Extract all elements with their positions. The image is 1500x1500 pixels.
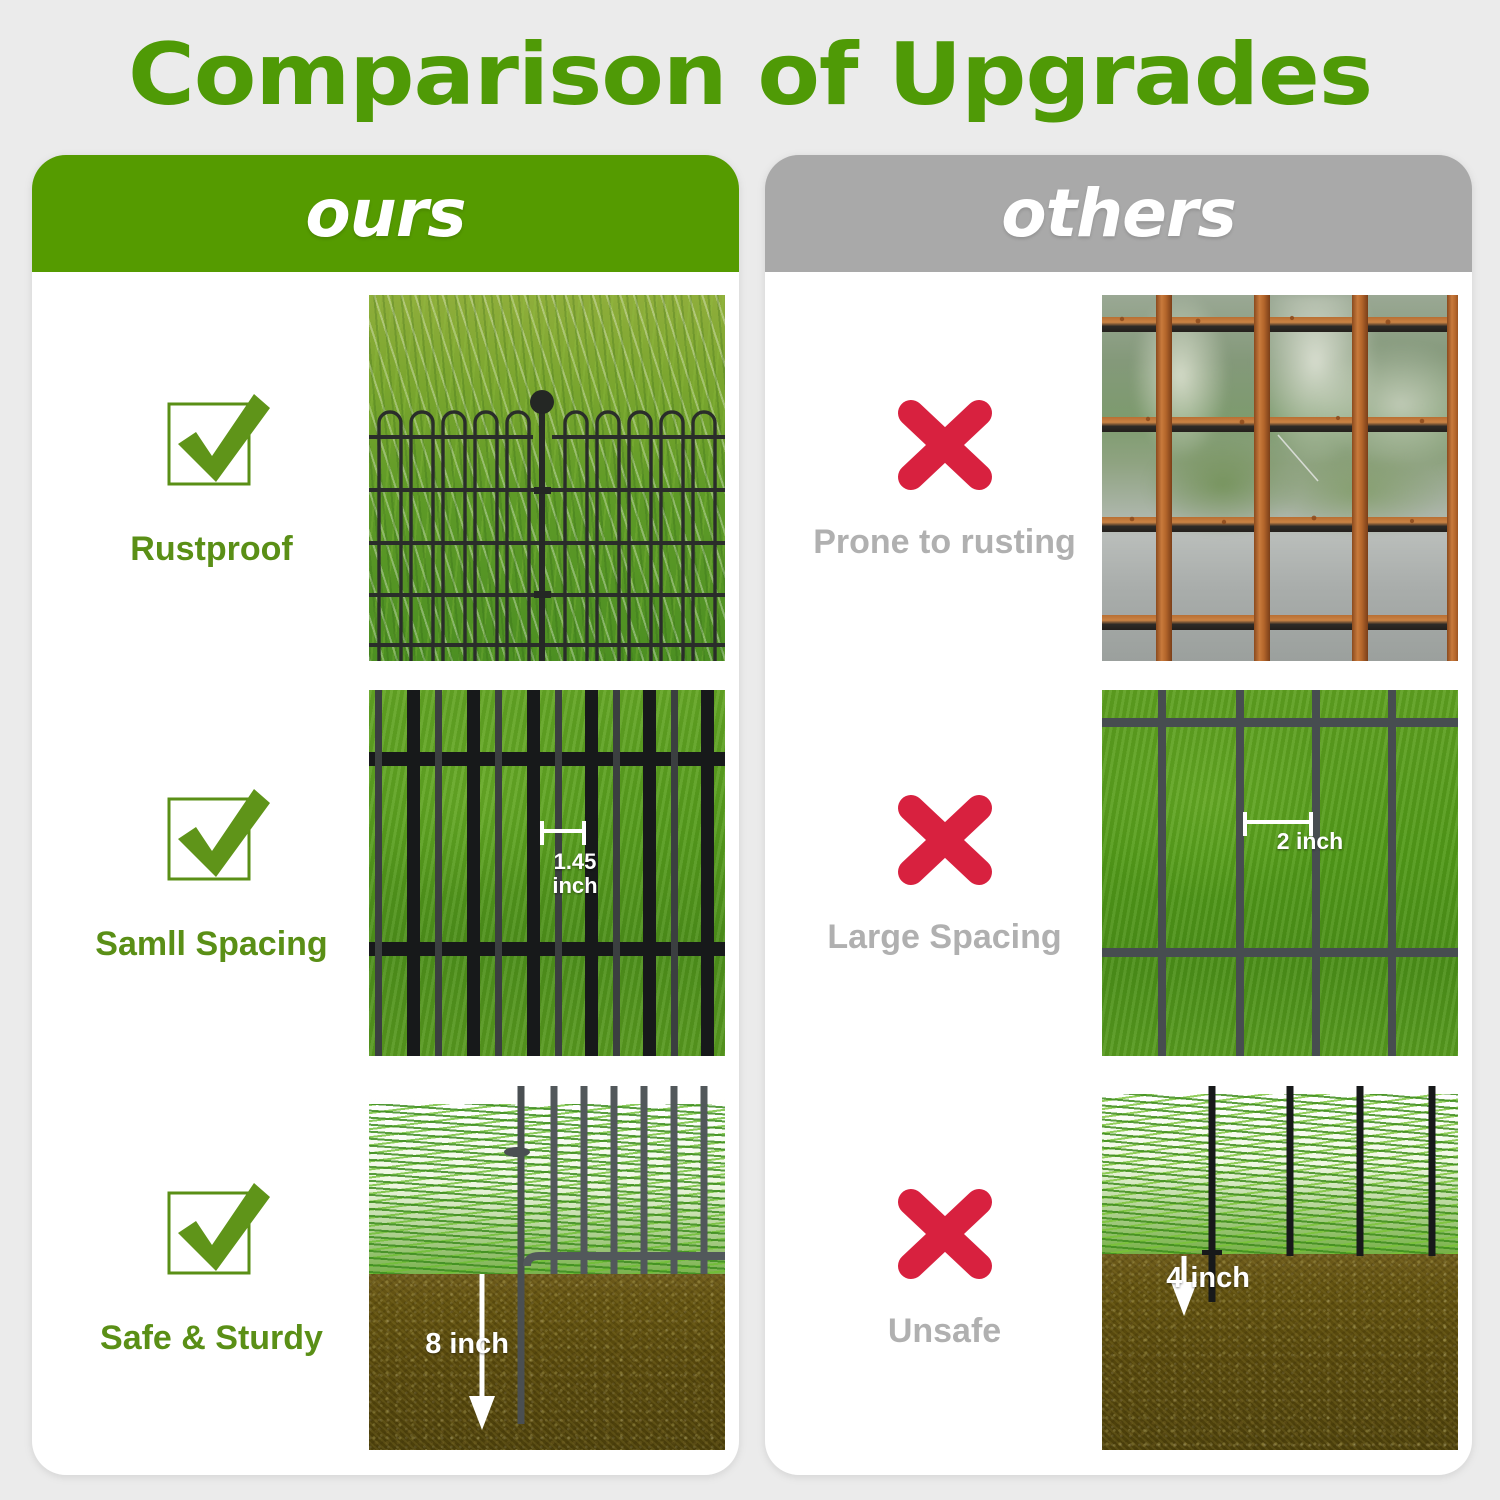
feature-label-safe-sturdy: Safe & Sturdy bbox=[100, 1319, 323, 1358]
panel-body-others: Prone to rusting bbox=[765, 272, 1472, 1475]
feature-prone-to-rusting: Prone to rusting bbox=[787, 393, 1102, 562]
media-large-spacing: 2 inch bbox=[1102, 690, 1458, 1056]
media-small-spacing: 1.45 inch bbox=[369, 690, 725, 1056]
feature-rustproof: Rustproof bbox=[54, 386, 369, 569]
red-x-icon bbox=[889, 788, 1001, 892]
feature-row-rustproof: Rustproof bbox=[54, 292, 717, 664]
wide-bars-overlay bbox=[1102, 690, 1458, 1056]
panel-header-others: others bbox=[765, 155, 1472, 272]
red-x-icon bbox=[889, 1182, 1001, 1286]
feature-small-spacing: Samll Spacing bbox=[54, 781, 369, 964]
fence-cross-section-overlay bbox=[1102, 1084, 1458, 1450]
panel-header-ours: ours bbox=[32, 155, 739, 272]
feature-unsafe: Unsafe bbox=[787, 1182, 1102, 1351]
narrow-bars-overlay bbox=[369, 690, 725, 1056]
panel-title-ours: ours bbox=[305, 181, 465, 247]
feature-label-unsafe: Unsafe bbox=[888, 1312, 1001, 1351]
panel-ours: ours Rustproof bbox=[32, 155, 739, 1475]
panel-body-ours: Rustproof bbox=[32, 272, 739, 1475]
feature-label-rustproof: Rustproof bbox=[130, 530, 292, 569]
fence-cross-section-overlay bbox=[369, 1084, 725, 1450]
feature-row-safe-sturdy: Safe & Sturdy bbox=[54, 1081, 717, 1453]
green-check-icon bbox=[150, 386, 274, 504]
feature-row-prone-to-rusting: Prone to rusting bbox=[787, 292, 1450, 664]
green-check-icon bbox=[150, 781, 274, 899]
media-stake-depth-4-inch: 4 inch bbox=[1102, 1084, 1458, 1450]
panel-title-others: others bbox=[1001, 181, 1235, 247]
comparison-infographic: Comparison of Upgrades ours Rustproof bbox=[0, 0, 1500, 1500]
rusty-grid-overlay bbox=[1102, 295, 1458, 661]
feature-large-spacing: Large Spacing bbox=[787, 788, 1102, 957]
media-stake-depth-8-inch: 8 inch bbox=[369, 1084, 725, 1450]
feature-row-small-spacing: Samll Spacing bbox=[54, 687, 717, 1059]
feature-safe-sturdy: Safe & Sturdy bbox=[54, 1175, 369, 1358]
media-rusty-mesh bbox=[1102, 295, 1458, 661]
red-x-icon bbox=[889, 393, 1001, 497]
green-check-icon bbox=[150, 1175, 274, 1293]
feature-label-prone-to-rusting: Prone to rusting bbox=[813, 523, 1076, 562]
hoop-fence-overlay bbox=[369, 295, 725, 661]
comparison-columns: ours Rustproof bbox=[32, 155, 1472, 1475]
feature-label-large-spacing: Large Spacing bbox=[827, 918, 1061, 957]
feature-row-large-spacing: Large Spacing bbox=[787, 687, 1450, 1059]
feature-label-small-spacing: Samll Spacing bbox=[95, 925, 327, 964]
media-rain-on-fence bbox=[369, 295, 725, 661]
feature-row-unsafe: Unsafe bbox=[787, 1081, 1450, 1453]
page-title: Comparison of Upgrades bbox=[0, 30, 1500, 120]
panel-others: others Prone to rusting bbox=[765, 155, 1472, 1475]
